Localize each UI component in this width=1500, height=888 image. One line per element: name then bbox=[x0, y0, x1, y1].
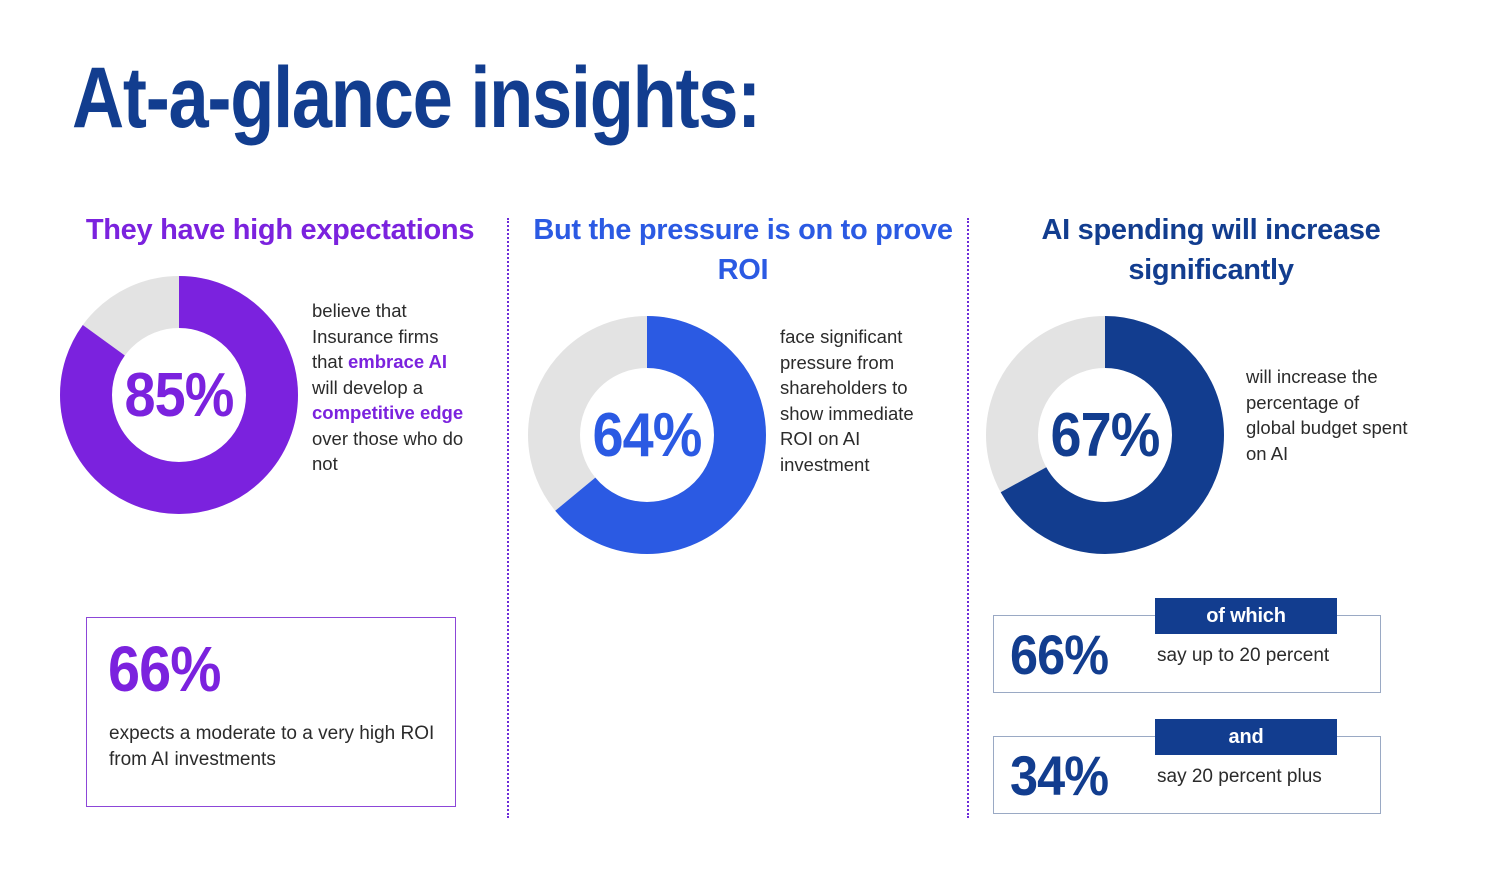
donut-row-3: 67% will increase the percentage of glob… bbox=[986, 316, 1436, 554]
column-ai-spending: AI spending will increase significantly … bbox=[986, 210, 1436, 554]
donut-chart-3: 67% bbox=[986, 316, 1224, 554]
column-heading-1: They have high expectations bbox=[60, 210, 500, 250]
donut-chart-2: 64% bbox=[528, 316, 766, 554]
breakdown-value-2: 34% bbox=[1010, 747, 1108, 805]
note-text-plain-1c: over those who do not bbox=[312, 428, 463, 475]
column-high-expectations: They have high expectations 85% believe … bbox=[60, 210, 500, 514]
breakdown-badge-1: of which bbox=[1155, 598, 1337, 634]
donut-note-1: believe that Insurance firms that embrac… bbox=[298, 276, 472, 477]
column-heading-3: AI spending will increase significantly bbox=[986, 210, 1436, 290]
stat-box-text: expects a moderate to a very high ROI fr… bbox=[109, 721, 445, 772]
breakdown-value-1: 66% bbox=[1010, 626, 1108, 684]
note-text-highlight-1b: competitive edge bbox=[312, 402, 463, 423]
stat-box-roi-expectation: 66% expects a moderate to a very high RO… bbox=[86, 617, 456, 807]
donut-value-2: 64% bbox=[540, 316, 754, 554]
column-heading-2: But the pressure is on to prove ROI bbox=[528, 210, 958, 290]
donut-note-2: face significant pressure from sharehold… bbox=[766, 316, 930, 477]
breakdown-text-1: say up to 20 percent bbox=[1157, 643, 1329, 668]
stat-box-value: 66% bbox=[108, 636, 221, 702]
donut-row-1: 85% believe that Insurance firms that em… bbox=[60, 276, 500, 514]
donut-value-1: 85% bbox=[72, 276, 286, 514]
donut-note-3: will increase the percentage of global b… bbox=[1224, 316, 1411, 466]
note-text-highlight-1a: embrace AI bbox=[348, 351, 447, 372]
breakdown-badge-2: and bbox=[1155, 719, 1337, 755]
column-pressure-roi: But the pressure is on to prove ROI 64% … bbox=[528, 210, 958, 554]
donut-chart-1: 85% bbox=[60, 276, 298, 514]
note-text-plain-1b: will develop a bbox=[312, 377, 423, 398]
breakdown-text-2: say 20 percent plus bbox=[1157, 764, 1322, 789]
donut-value-3: 67% bbox=[998, 316, 1212, 554]
donut-row-2: 64% face significant pressure from share… bbox=[528, 316, 958, 554]
